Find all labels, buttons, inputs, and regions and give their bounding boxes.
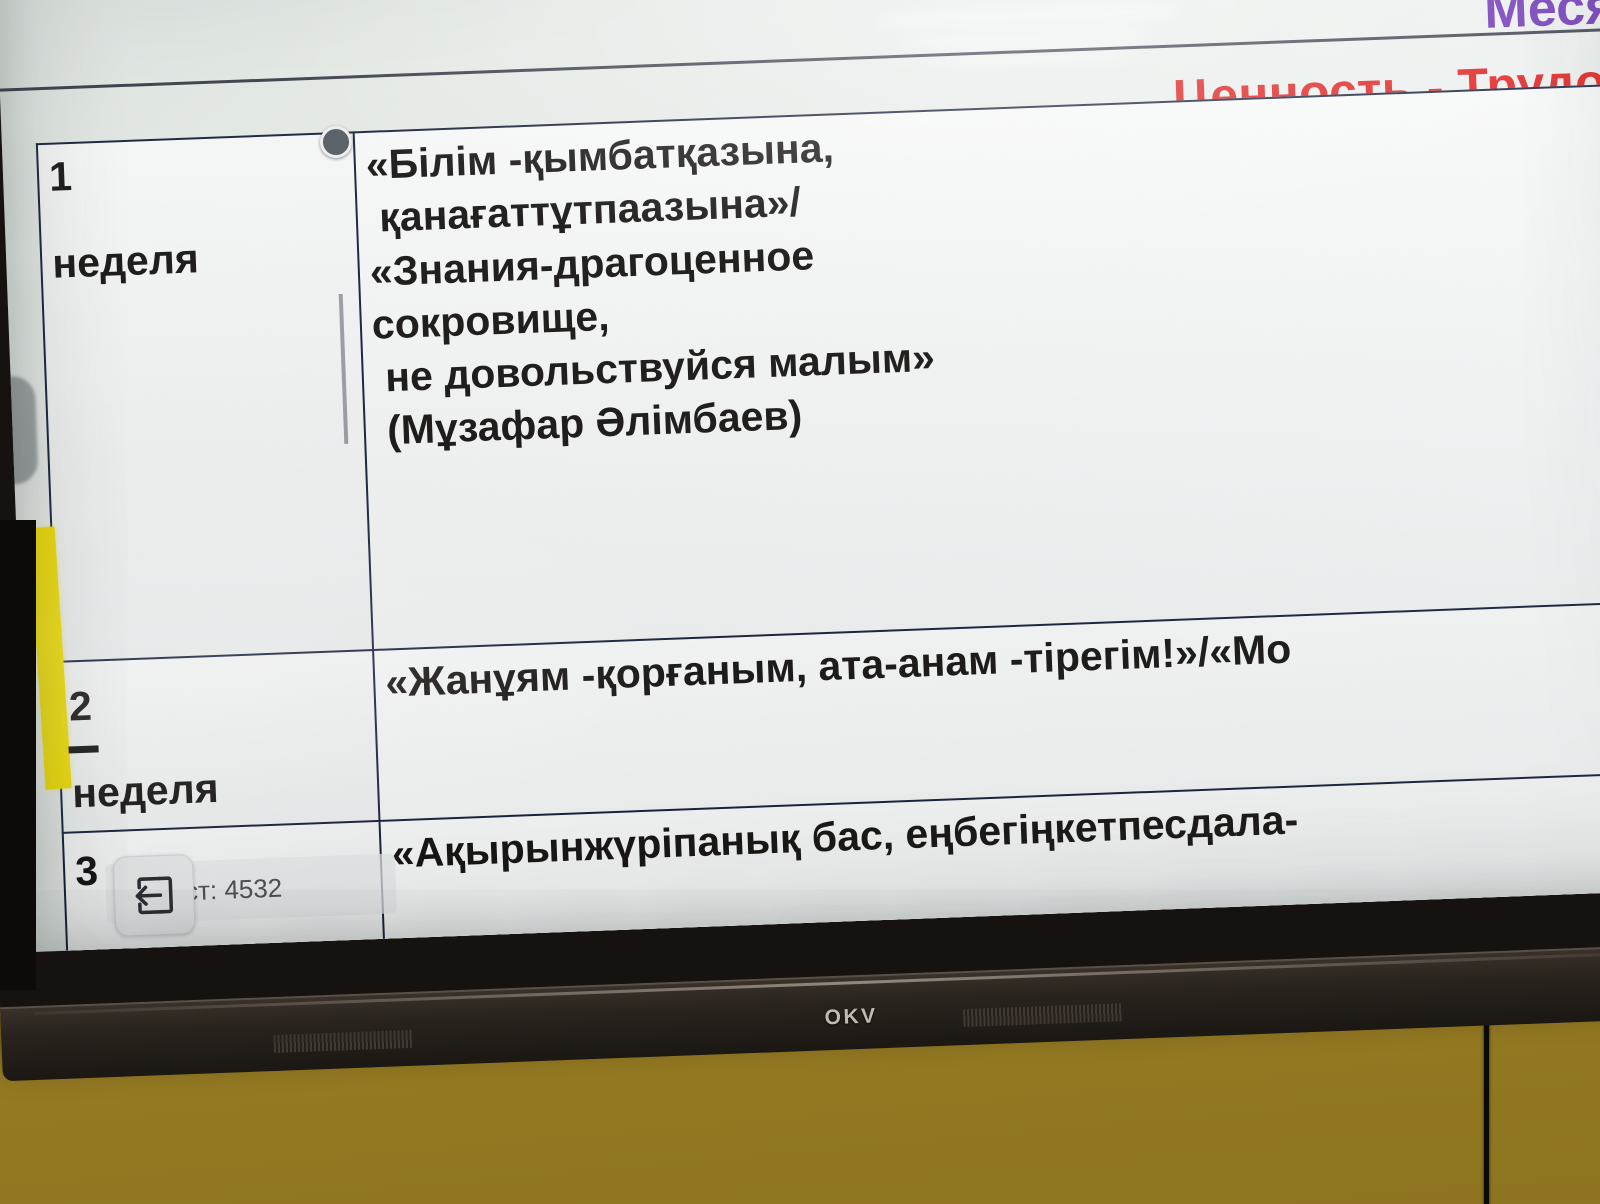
display-screen[interactable]: Меся Ценность - Трудол 1 неделя «Білім -… xyxy=(0,0,1600,952)
presentation-slide: Меся Ценность - Трудол 1 неделя «Білім -… xyxy=(0,0,1600,952)
panel-left-shadow xyxy=(0,520,36,990)
left-edge-dash-mark xyxy=(68,745,98,753)
week-number: 1 xyxy=(48,140,345,204)
interactive-display-panel: Меся Ценность - Трудол 1 неделя «Білім -… xyxy=(0,0,1600,1045)
photo-scene: Меся Ценность - Трудол 1 неделя «Білім -… xyxy=(0,0,1600,1204)
week-quote-cell[interactable]: «Білім -қымбатқазына, қанағаттұтпаазына»… xyxy=(354,83,1600,650)
table-row[interactable]: 1 неделя «Білім -қымбатқазына, қанағаттұ… xyxy=(37,83,1600,662)
power-cable xyxy=(1484,1000,1489,1204)
week-number: 2 xyxy=(68,669,365,733)
week-unit-label: неделя xyxy=(71,757,368,821)
week-unit-label: неделя xyxy=(51,227,348,291)
insert-text-button[interactable] xyxy=(113,854,196,937)
week-cell[interactable]: 2 неделя xyxy=(56,650,379,832)
week-cell[interactable]: 1 неделя xyxy=(37,132,373,662)
slide-title-month: Меся xyxy=(1483,0,1600,41)
weeks-table: 1 неделя «Білім -қымбатқазына, қанағаттұ… xyxy=(36,82,1600,952)
